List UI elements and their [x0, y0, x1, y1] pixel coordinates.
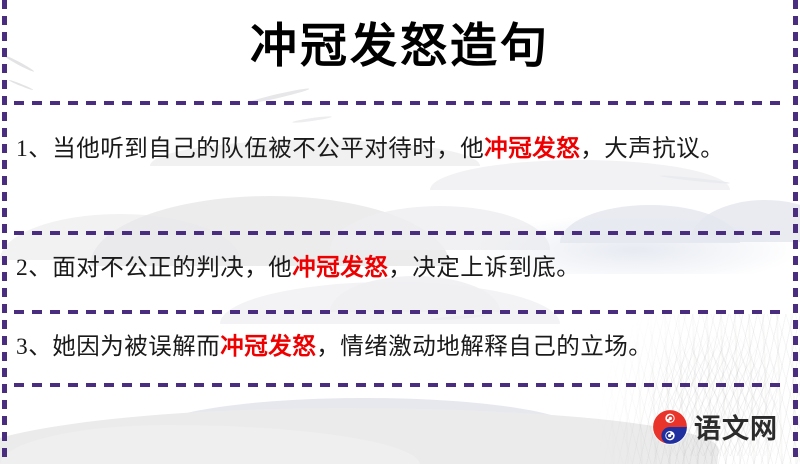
keyword-highlight: 冲冠发怒 — [484, 136, 580, 162]
sentence-index: 3、 — [16, 334, 52, 360]
keyword-highlight: 冲冠发怒 — [292, 255, 388, 281]
page-root: 冲冠发怒造句 1、当他听到自己的队伍被不公平对待时，他冲冠发怒，大声抗议。 2、… — [0, 0, 800, 464]
sentence-text-before: 当他听到自己的队伍被不公平对待时，他 — [52, 136, 484, 162]
sentence-text-after: ，决定上诉到底。 — [388, 255, 580, 281]
sentence-item-2: 2、面对不公正的判决，他冲冠发怒，决定上诉到底。 — [16, 247, 784, 289]
page-title: 冲冠发怒造句 — [0, 22, 800, 74]
sentence-index: 2、 — [16, 255, 52, 281]
keyword-highlight: 冲冠发怒 — [220, 334, 316, 360]
divider-1 — [14, 231, 786, 235]
sentence-item-1: 1、当他听到自己的队伍被不公平对待时，他冲冠发怒，大声抗议。 — [16, 128, 784, 170]
divider-top — [14, 101, 786, 105]
divider-bottom — [14, 383, 786, 387]
sentence-text-before: 面对不公正的判决，他 — [52, 255, 292, 281]
sentence-text-after: ，情绪激动地解释自己的立场。 — [316, 334, 652, 360]
divider-2 — [14, 310, 786, 314]
site-logo[interactable]: 语文网 — [652, 407, 778, 446]
sentence-index: 1、 — [16, 136, 52, 162]
sentence-text-after: ，大声抗议。 — [580, 136, 724, 162]
sentence-text-before: 她因为被误解而 — [52, 334, 220, 360]
yin-yang-logo-icon — [652, 409, 688, 445]
site-logo-text: 语文网 — [694, 407, 778, 446]
sentence-item-3: 3、她因为被误解而冲冠发怒，情绪激动地解释自己的立场。 — [16, 326, 784, 368]
content-area: 冲冠发怒造句 1、当他听到自己的队伍被不公平对待时，他冲冠发怒，大声抗议。 2、… — [0, 0, 800, 464]
